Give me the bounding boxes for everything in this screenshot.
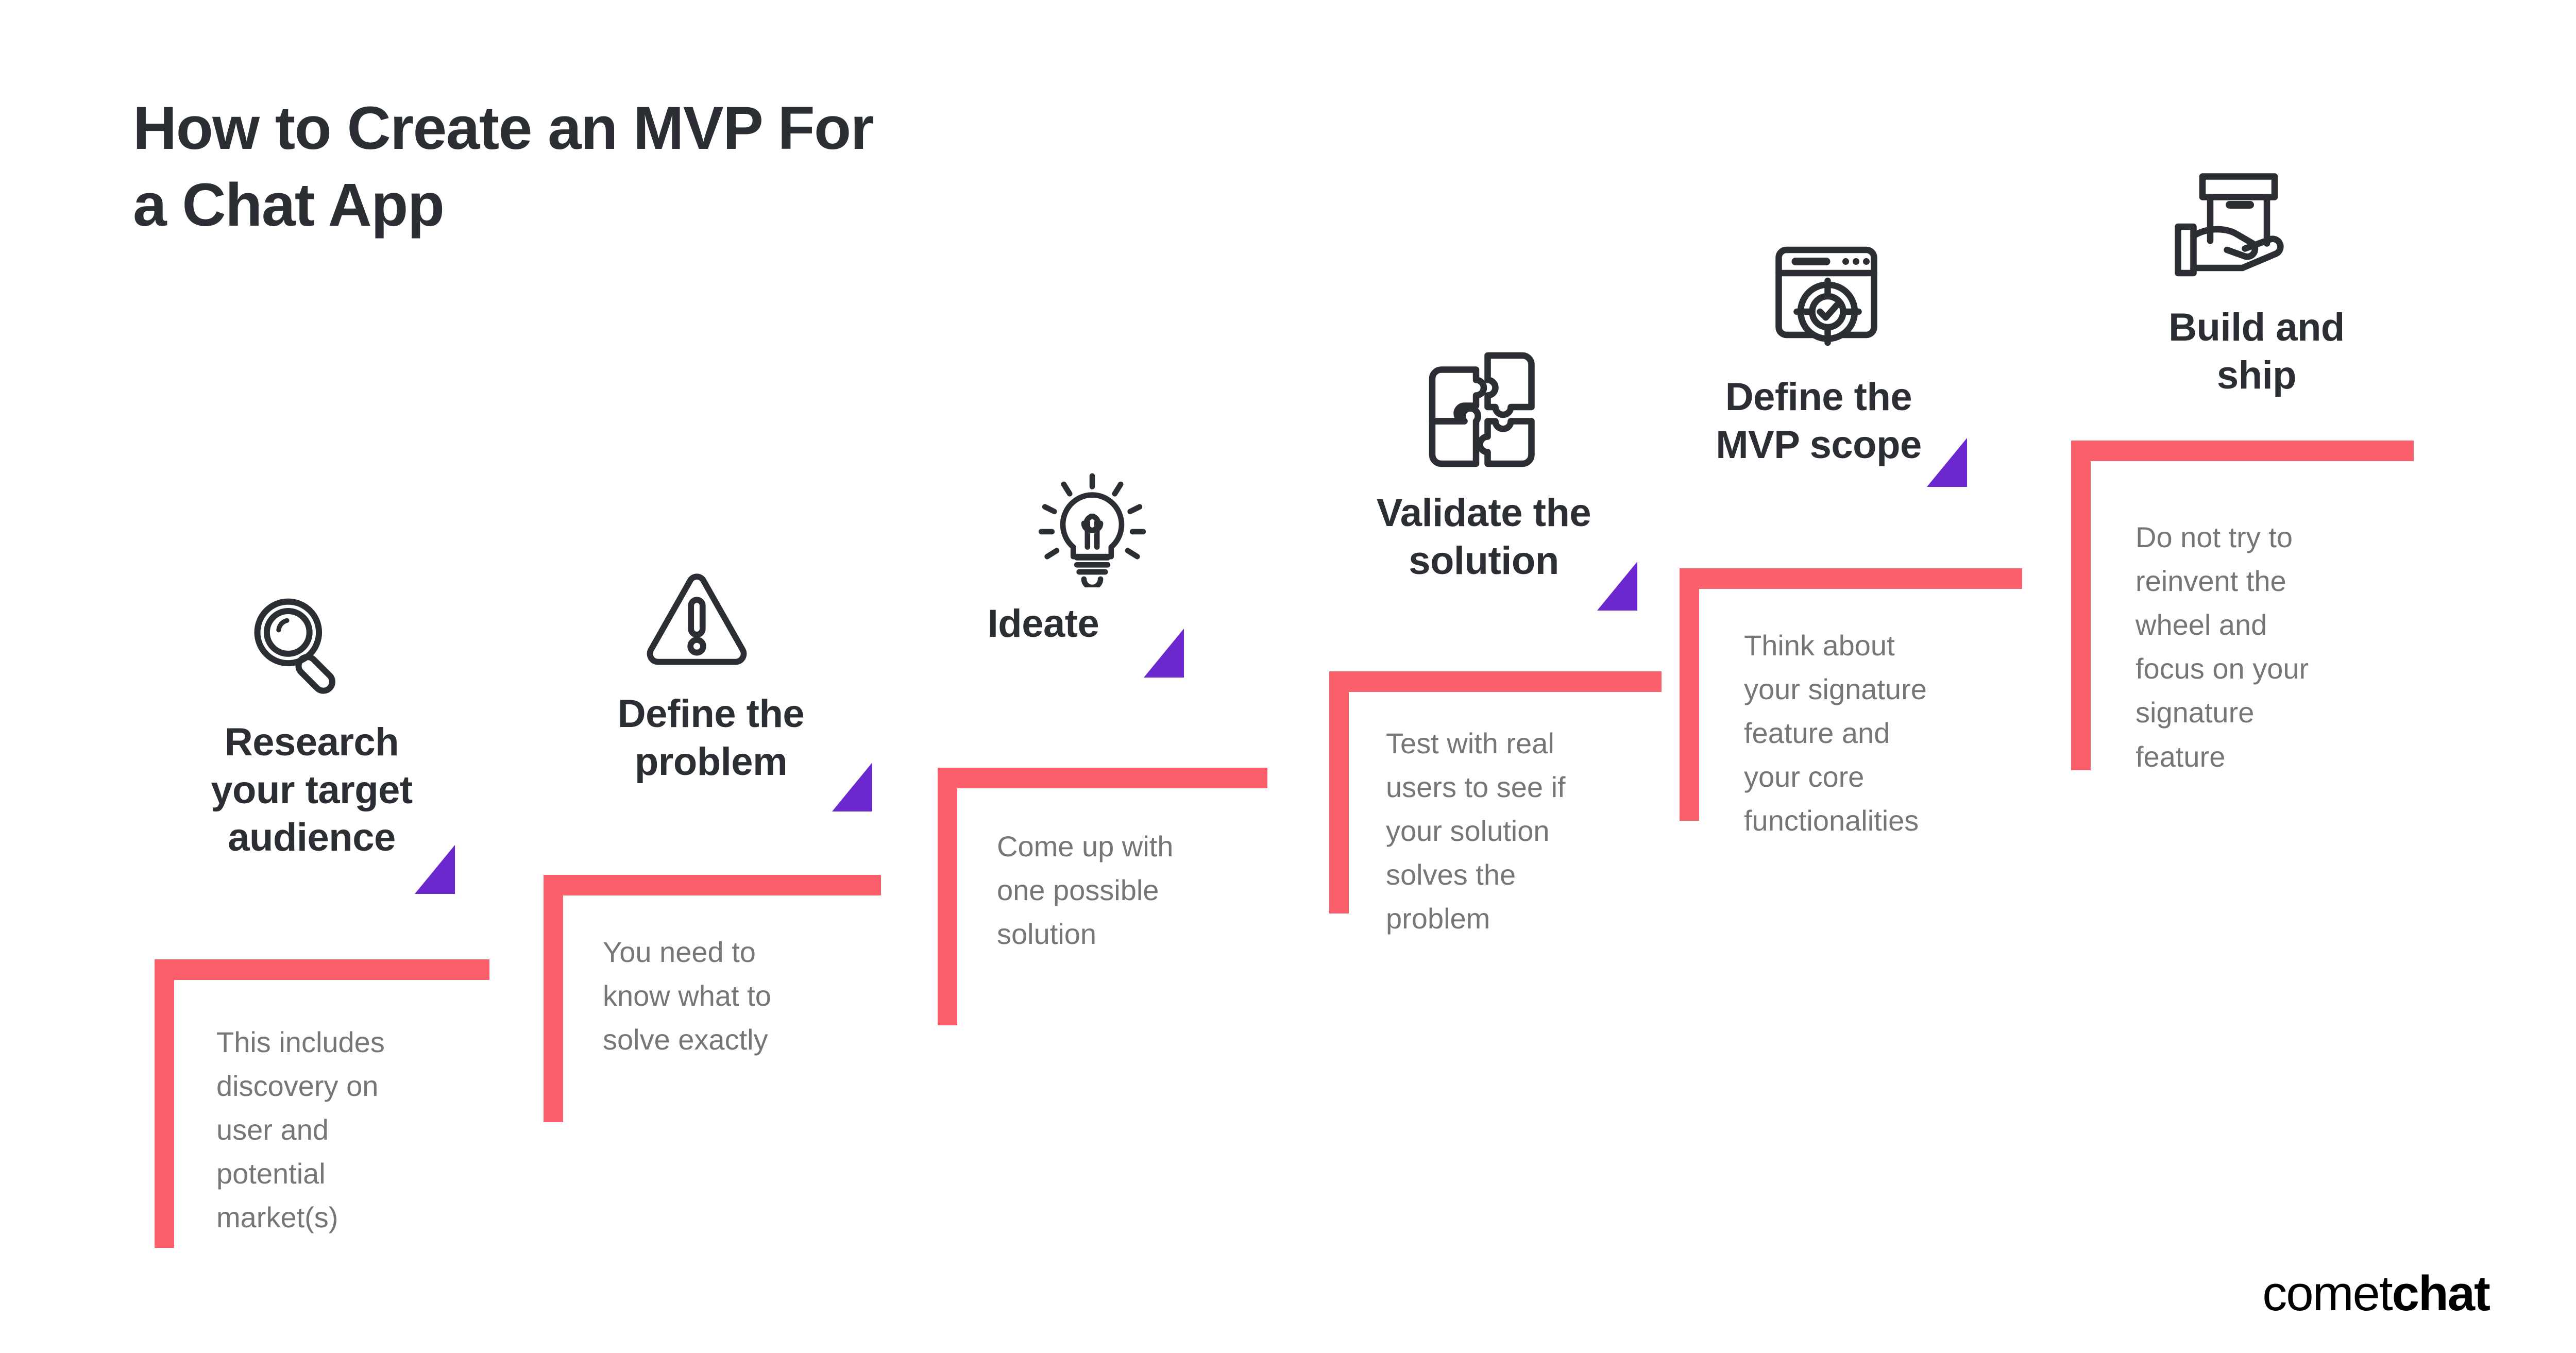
purple-arrow-icon	[415, 845, 455, 894]
page-title: How to Create an MVP For a Chat App	[133, 90, 1215, 243]
cometchat-logo: cometchat	[2262, 1265, 2489, 1322]
lightbulb-icon	[1033, 469, 1151, 587]
step-body: Do not try to reinvent the wheel and foc…	[2136, 515, 2416, 779]
step-heading: Define the problem	[546, 690, 876, 786]
step-body: This includes discovery on user and pote…	[216, 1020, 505, 1240]
step-heading: Research your target audience	[147, 719, 477, 862]
purple-arrow-icon	[1597, 562, 1637, 611]
purple-arrow-icon	[1144, 629, 1184, 678]
magnifier-icon	[240, 587, 358, 706]
browser-target-icon	[1762, 232, 1891, 361]
infographic-canvas: How to Create an MVP For a Chat App Rese…	[0, 0, 2576, 1353]
step-body: Come up with one possible solution	[997, 824, 1285, 956]
step-body: Test with real users to see if your solu…	[1386, 721, 1674, 941]
logo-text-comet: comet	[2262, 1266, 2392, 1321]
hand-holding-box-icon	[2166, 160, 2295, 289]
step-body: You need to know what to solve exactly	[603, 930, 891, 1061]
logo-text-chat: chat	[2392, 1266, 2489, 1321]
warning-triangle-icon	[639, 562, 755, 678]
step-body: Think about your signature feature and y…	[1744, 623, 2053, 843]
purple-arrow-icon	[832, 763, 872, 811]
puzzle-pieces-icon	[1417, 340, 1546, 469]
purple-arrow-icon	[1927, 438, 1967, 487]
step-heading: Build and ship	[2092, 304, 2421, 399]
